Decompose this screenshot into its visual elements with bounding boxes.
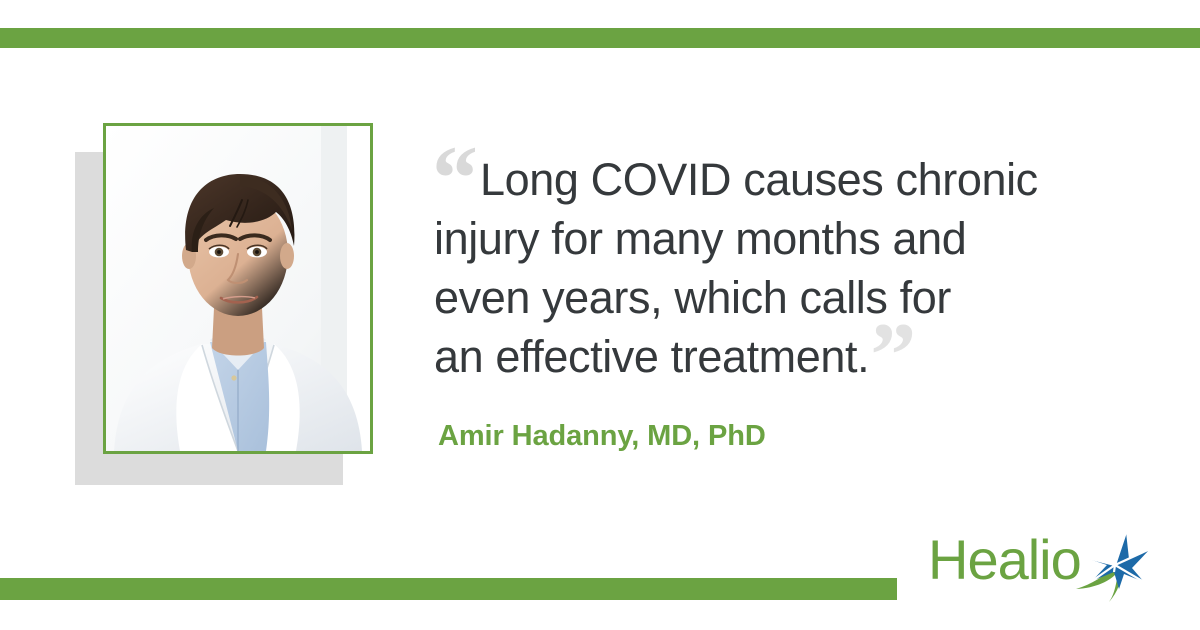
pull-quote: “Long COVID causes chronic injury for ma…	[434, 150, 1134, 386]
portrait-block	[75, 123, 375, 485]
healio-wordmark: Healio	[928, 532, 1081, 588]
quote-line-3: even years, which calls for	[434, 268, 1134, 327]
attribution-name: Amir Hadanny, MD, PhD	[438, 420, 766, 453]
quote-line-1-text: Long COVID causes chronic	[480, 154, 1038, 205]
quote-text: “Long COVID causes chronic injury for ma…	[434, 150, 1134, 386]
healio-star-icon	[1074, 526, 1150, 602]
quote-line-4-text: an effective treatment.	[434, 331, 869, 382]
healio-logo[interactable]: Healio	[928, 528, 1144, 596]
quote-line-4: an effective treatment.”	[434, 327, 1134, 386]
top-green-rule	[0, 28, 1200, 48]
portrait-frame	[103, 123, 373, 454]
quote-line-2-text: injury for many months and	[434, 213, 966, 264]
bottom-green-rule	[0, 578, 897, 600]
quote-line-2: injury for many months and	[434, 209, 1134, 268]
quote-line-1: “Long COVID causes chronic	[434, 150, 1134, 209]
portrait-photo-icon	[106, 126, 370, 451]
